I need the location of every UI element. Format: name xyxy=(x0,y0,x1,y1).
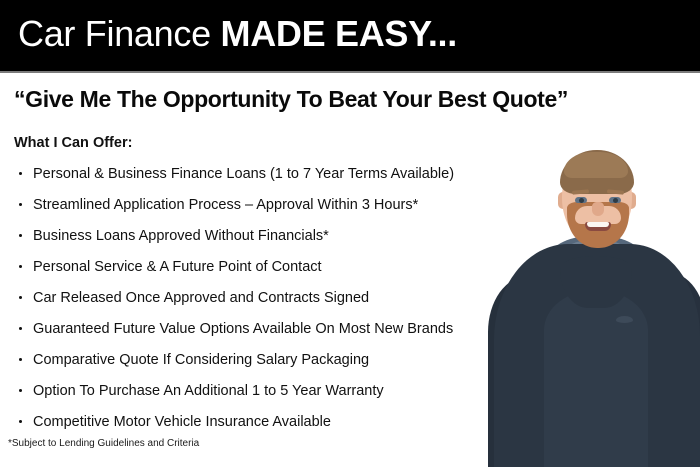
advert-poster: Car Finance MADE EASY... “Give Me The Op… xyxy=(0,0,700,467)
banner-divider xyxy=(0,71,700,73)
list-item: Guaranteed Future Value Options Availabl… xyxy=(14,317,454,348)
bullet-dot-icon xyxy=(19,234,22,237)
list-item: Car Released Once Approved and Contracts… xyxy=(14,286,454,317)
footnote-disclaimer: *Subject to Lending Guidelines and Crite… xyxy=(8,437,199,451)
banner-title-light: Car Finance xyxy=(18,13,221,54)
right-pupil xyxy=(613,198,618,203)
list-item: Business Loans Approved Without Financia… xyxy=(14,224,454,255)
offer-subheading: What I Can Offer: xyxy=(14,134,132,152)
header-banner: Car Finance MADE EASY... xyxy=(0,0,700,71)
list-item: Personal & Business Finance Loans (1 to … xyxy=(14,162,454,193)
offer-bullet-list: Personal & Business Finance Loans (1 to … xyxy=(14,162,454,441)
bullet-dot-icon xyxy=(19,389,22,392)
sweater-logo-icon xyxy=(616,316,633,323)
list-item-label: Personal Service & A Future Point of Con… xyxy=(33,259,322,275)
list-item: Option To Purchase An Additional 1 to 5 … xyxy=(14,379,454,410)
banner-title: Car Finance MADE EASY... xyxy=(18,12,457,56)
list-item-label: Guaranteed Future Value Options Availabl… xyxy=(33,321,453,337)
list-item-label: Streamlined Application Process – Approv… xyxy=(33,197,418,213)
bullet-dot-icon xyxy=(19,296,22,299)
bullet-dot-icon xyxy=(19,420,22,423)
bullet-dot-icon xyxy=(19,172,22,175)
left-pupil xyxy=(579,198,584,203)
list-item-label: Competitive Motor Vehicle Insurance Avai… xyxy=(33,414,331,430)
list-item-label: Car Released Once Approved and Contracts… xyxy=(33,290,369,306)
bullet-dot-icon xyxy=(19,203,22,206)
bullet-dot-icon xyxy=(19,327,22,330)
teeth xyxy=(587,222,609,227)
hair-highlight xyxy=(564,152,628,178)
list-item-label: Personal & Business Finance Loans (1 to … xyxy=(33,166,454,182)
sweater-highlight xyxy=(544,290,648,467)
list-item-label: Comparative Quote If Considering Salary … xyxy=(33,352,369,368)
portrait-photo xyxy=(488,140,700,467)
list-item: Comparative Quote If Considering Salary … xyxy=(14,348,454,379)
headline-quote: “Give Me The Opportunity To Beat Your Be… xyxy=(14,85,694,113)
list-item-label: Option To Purchase An Additional 1 to 5 … xyxy=(33,383,384,399)
list-item: Streamlined Application Process – Approv… xyxy=(14,193,454,224)
list-item-label: Business Loans Approved Without Financia… xyxy=(33,228,329,244)
bullet-dot-icon xyxy=(19,265,22,268)
list-item: Personal Service & A Future Point of Con… xyxy=(14,255,454,286)
banner-title-bold: MADE EASY... xyxy=(221,13,457,54)
bullet-dot-icon xyxy=(19,358,22,361)
nose xyxy=(592,202,604,216)
